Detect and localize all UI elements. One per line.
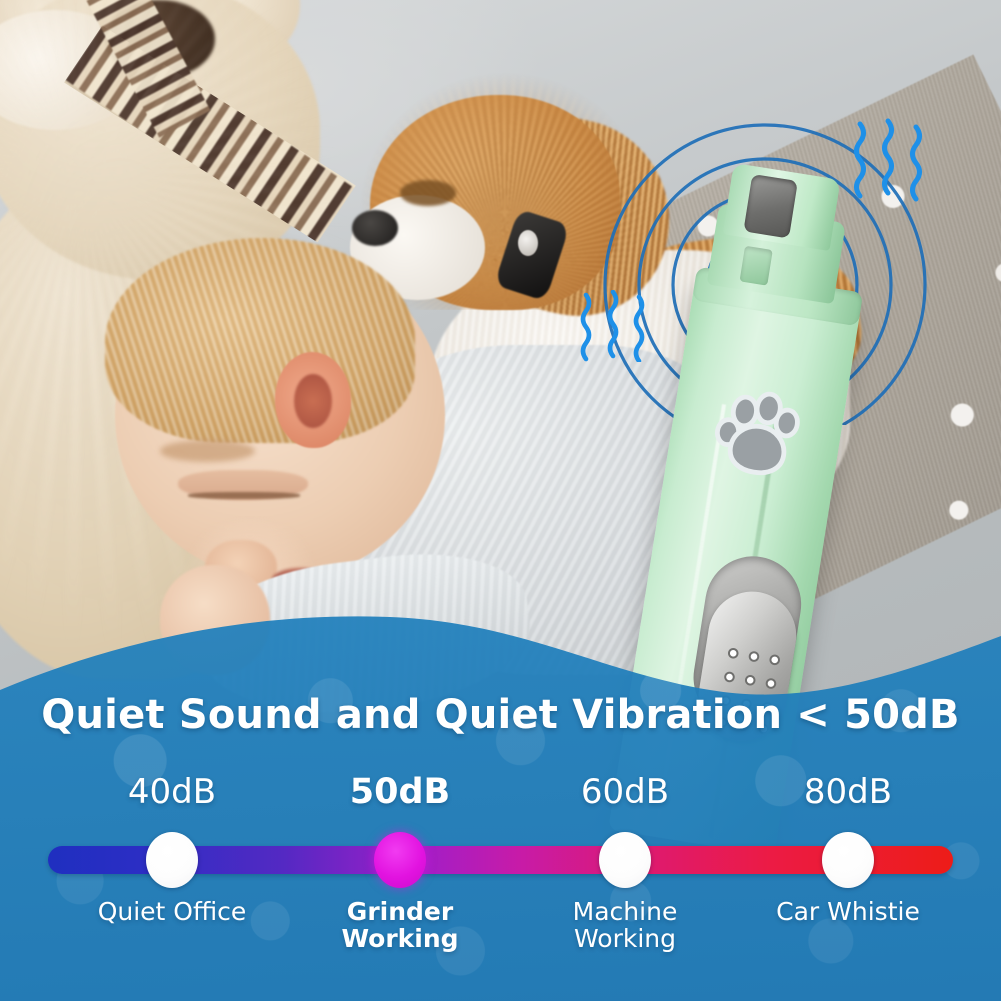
scale-dot-3[interactable] [822, 832, 874, 888]
scale-caption-1: Grinder Working [290, 898, 510, 952]
scale-caption-3: Car Whistie [738, 898, 958, 925]
caption-line-1-3: Car Whistie [776, 897, 920, 926]
caption-line-1-1: Grinder [347, 897, 453, 926]
db-label-1: 50dB [310, 772, 490, 812]
scale-dot-0[interactable] [146, 832, 198, 888]
caption-line-1-0: Quiet Office [98, 897, 247, 926]
caption-line-2-1: Working [290, 925, 510, 952]
scale-dot-2[interactable] [599, 832, 651, 888]
overlay-content: Quiet Sound and Quiet Vibration < 50dB 4… [0, 0, 1001, 1001]
product-infographic: Quiet Sound and Quiet Vibration < 50dB 4… [0, 0, 1001, 1001]
caption-line-2-2: Working [515, 925, 735, 952]
scale-caption-0: Quiet Office [62, 898, 282, 925]
headline: Quiet Sound and Quiet Vibration < 50dB [0, 692, 1001, 738]
decibel-scale: 40dB Quiet Office 50dB Grinder Working 6… [0, 780, 1001, 990]
db-label-3: 80dB [758, 772, 938, 812]
db-label-0: 40dB [82, 772, 262, 812]
scale-dot-1-active[interactable] [374, 832, 426, 888]
scale-caption-2: Machine Working [515, 898, 735, 952]
caption-line-1-2: Machine [573, 897, 678, 926]
db-label-2: 60dB [535, 772, 715, 812]
